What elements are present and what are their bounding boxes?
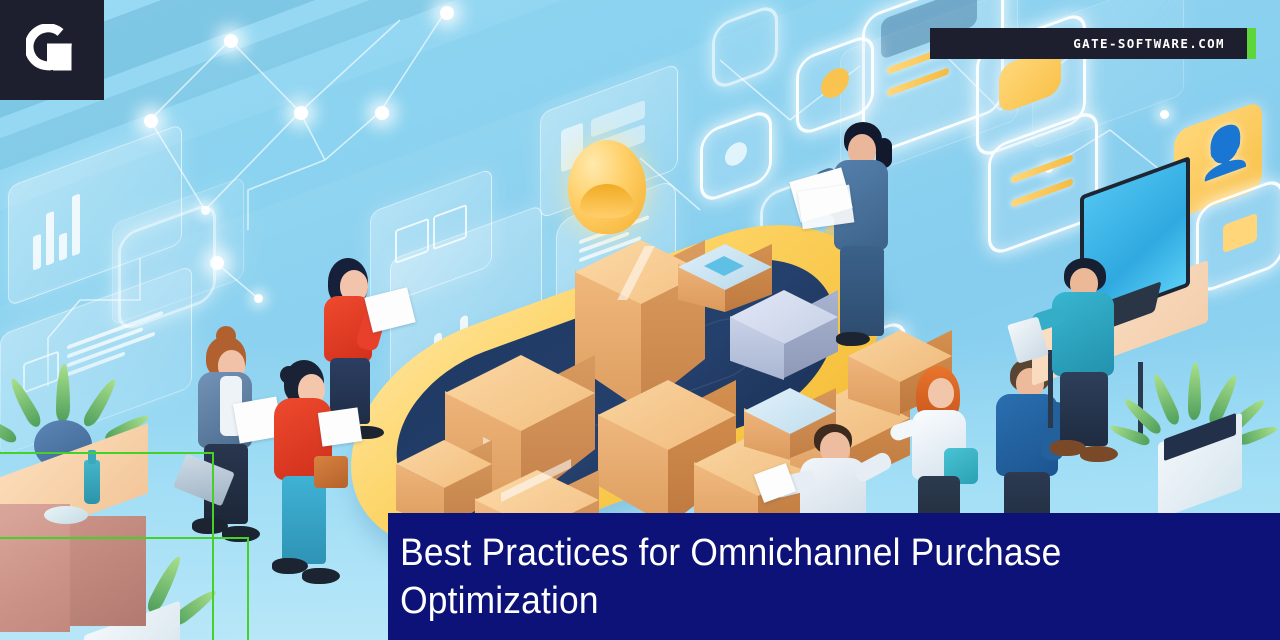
gate-software-g-logo-icon — [26, 24, 78, 76]
brand-logo[interactable] — [0, 0, 104, 100]
site-url-label: GATE-SOFTWARE.COM — [1073, 36, 1247, 51]
head — [928, 378, 954, 408]
decorative-green-frame — [0, 537, 249, 640]
shoe — [836, 332, 870, 346]
woman-red-top-teal-jeans — [262, 360, 352, 590]
title-panel: Best Practices for Omnichannel Purchase … — [388, 513, 1280, 640]
user-avatar-icon: 👤 — [1198, 119, 1253, 183]
document — [798, 185, 855, 230]
banner-image: 👤 — [0, 0, 1280, 640]
shoe — [1080, 446, 1118, 462]
legs — [282, 476, 326, 564]
cardboard-box — [404, 446, 464, 514]
shopping-bag-icon — [568, 140, 646, 234]
handbag — [314, 456, 348, 488]
open-box — [678, 244, 772, 318]
potted-plant-right — [1140, 368, 1258, 518]
page-title: Best Practices for Omnichannel Purchase … — [388, 513, 1218, 626]
businessman-blue-suit-papers — [818, 122, 910, 352]
shoe — [302, 568, 340, 584]
document — [318, 407, 362, 446]
legs — [1060, 372, 1108, 446]
site-url-bar[interactable]: GATE-SOFTWARE.COM — [930, 28, 1247, 59]
torso — [1052, 292, 1114, 376]
url-accent-bar — [1247, 28, 1256, 59]
legs — [840, 246, 884, 336]
